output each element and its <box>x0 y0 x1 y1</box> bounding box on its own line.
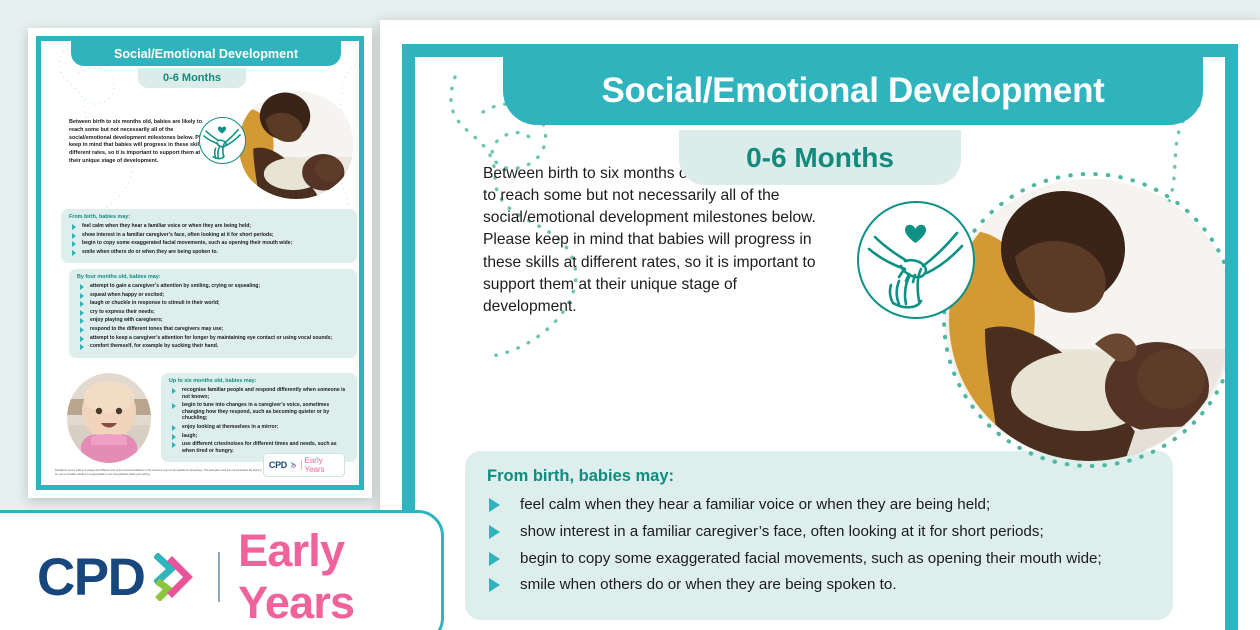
thumb-card-four-months: By four months old, babies may: attempt … <box>69 269 357 358</box>
list-item-text: recognise familiar people and respond di… <box>182 387 345 400</box>
thumb-logo-cpd: CPD <box>269 460 287 470</box>
list-item: laugh or chuckle in response to stimuli … <box>77 300 349 307</box>
triangle-bullet-icon <box>72 224 76 230</box>
list-item: cry to express their needs; <box>77 309 349 316</box>
list-item-text: smile when others do or when they are be… <box>520 576 897 593</box>
poster-large-frame: Social/Emotional Development 0-6 Months <box>402 44 1238 630</box>
list-item: show interest in a familiar caregiver’s … <box>487 522 1151 542</box>
thumb-footer: Disclaimer: Every setting is unique and … <box>55 453 345 477</box>
list-item: feel calm when they hear a familiar voic… <box>487 495 1151 515</box>
list-item-text: enjoy playing with caregivers; <box>90 317 163 323</box>
thumb-logo-early-years: Early Years <box>305 456 340 474</box>
photo-dotted-ring <box>935 169 1225 471</box>
triangle-bullet-icon <box>172 403 176 409</box>
age-range-badge: 0-6 Months <box>679 130 961 185</box>
triangle-bullet-icon <box>172 388 176 394</box>
list-item-text: cry to express their needs; <box>90 309 155 315</box>
list-item-text: use different cries/noises for different… <box>182 441 337 454</box>
list-item-text: smile when others do or when they are be… <box>82 249 218 255</box>
list-item-text: comfort themself, for example by sucking… <box>90 343 218 349</box>
triangle-bullet-icon <box>80 344 84 350</box>
list-item: enjoy playing with caregivers; <box>77 317 349 324</box>
triangle-bullet-icon <box>80 318 84 324</box>
list-item-text: feel calm when they hear a familiar voic… <box>520 496 990 513</box>
thumb-card-six-months: Up to six months old, babies may: recogn… <box>161 373 357 462</box>
page-title: Social/Emotional Development <box>601 71 1104 111</box>
thumb-section-heading: Up to six months old, babies may: <box>169 378 349 384</box>
thumb-hands-heart-icon <box>199 117 246 164</box>
list-item-text: feel calm when they hear a familiar voic… <box>82 223 251 229</box>
list-item: smile when others do or when they are be… <box>487 575 1151 595</box>
thumb-milestone-list: recognise familiar people and respond di… <box>169 387 349 454</box>
thumb-age-label: 0-6 Months <box>163 72 221 84</box>
poster-large: Social/Emotional Development 0-6 Months <box>380 20 1260 630</box>
triangle-bullet-icon <box>489 525 500 539</box>
chevron-mark-icon <box>154 553 200 601</box>
triangle-bullet-icon <box>72 250 76 256</box>
list-item-text: show interest in a familiar caregiver’s … <box>520 523 1044 540</box>
thumb-card-from-birth: From birth, babies may: feel calm when t… <box>61 209 357 263</box>
thumb-section-heading: From birth, babies may: <box>69 214 349 220</box>
thumb-intro-paragraph: Between birth to six months old, babies … <box>69 119 213 166</box>
list-item: laugh; <box>169 433 349 440</box>
list-item: attempt to keep a caregiver’s attention … <box>77 335 349 342</box>
thumb-chevron-mark-icon <box>290 461 298 470</box>
list-item: begin to copy some exaggerated facial mo… <box>69 240 349 247</box>
list-item: recognise familiar people and respond di… <box>169 387 349 400</box>
milestones-card-from-birth: From birth, babies may: feel calm when t… <box>465 451 1173 620</box>
intro-paragraph: Between birth to six months old, babies … <box>483 163 833 318</box>
screenshot-stage: Social/Emotional Development 0-6 Months <box>0 0 1260 630</box>
thumb-title-banner: Social/Emotional Development <box>71 41 341 66</box>
list-item: comfort themself, for example by sucking… <box>77 343 349 350</box>
list-item: show interest in a familiar caregiver’s … <box>69 232 349 239</box>
list-item-text: laugh or chuckle in response to stimuli … <box>90 300 220 306</box>
age-range-label: 0-6 Months <box>746 142 894 174</box>
list-item: respond to the different tones that care… <box>77 326 349 333</box>
list-item-text: enjoy looking at themselves in a mirror; <box>182 424 278 430</box>
list-item-text: begin to copy some exaggerated facial mo… <box>82 240 292 246</box>
poster-large-content: Social/Emotional Development 0-6 Months <box>415 57 1225 630</box>
thumb-milestone-list: feel calm when they hear a familiar voic… <box>69 223 349 255</box>
thumb-baby-photo <box>67 373 151 463</box>
triangle-bullet-icon <box>489 552 500 566</box>
list-item: enjoy looking at themselves in a mirror; <box>169 424 349 431</box>
list-item-text: begin to tune into changes in a caregive… <box>182 402 329 421</box>
triangle-bullet-icon <box>489 578 500 592</box>
thumb-brand-logo: CPD Early Years <box>263 453 345 477</box>
triangle-bullet-icon <box>80 310 84 316</box>
thumb-milestone-list: attempt to gain a caregiver’s attention … <box>77 283 349 350</box>
thumb-page-title: Social/Emotional Development <box>114 47 298 61</box>
hands-heart-icon <box>857 201 975 319</box>
logo-divider <box>218 552 220 602</box>
list-item: feel calm when they hear a familiar voic… <box>69 223 349 230</box>
milestone-list: feel calm when they hear a familiar voic… <box>487 495 1151 595</box>
list-item-text: attempt to gain a caregiver’s attention … <box>90 283 260 289</box>
triangle-bullet-icon <box>80 327 84 333</box>
thumb-section-heading: By four months old, babies may: <box>77 274 349 280</box>
list-item-text: laugh; <box>182 433 197 439</box>
triangle-bullet-icon <box>80 336 84 342</box>
list-item-text: show interest in a familiar caregiver’s … <box>82 232 274 238</box>
brand-logo-card: CPD Early Years <box>0 510 444 630</box>
triangle-bullet-icon <box>80 301 84 307</box>
list-item: smile when others do or when they are be… <box>69 249 349 256</box>
list-item: begin to copy some exaggerated facial mo… <box>487 549 1151 569</box>
triangle-bullet-icon <box>172 434 176 440</box>
triangle-bullet-icon <box>489 498 500 512</box>
thumb-age-badge: 0-6 Months <box>138 68 246 88</box>
poster-thumbnail[interactable]: Social/Emotional Development 0-6 Months <box>28 28 372 498</box>
list-item-text: respond to the different tones that care… <box>90 326 223 332</box>
logo-cpd-text: CPD <box>37 547 144 608</box>
list-item-text: attempt to keep a caregiver’s attention … <box>90 335 332 341</box>
list-item-text: squeal when happy or excited; <box>90 292 164 298</box>
thumb-caregiver-baby-photo <box>237 91 355 199</box>
brand-logo-row: CPD Early Years <box>0 525 441 629</box>
triangle-bullet-icon <box>172 425 176 431</box>
list-item: attempt to gain a caregiver’s attention … <box>77 283 349 290</box>
triangle-bullet-icon <box>72 241 76 247</box>
triangle-bullet-icon <box>172 442 176 448</box>
list-item-text: begin to copy some exaggerated facial mo… <box>520 550 1102 567</box>
poster-title-banner: Social/Emotional Development <box>503 57 1203 125</box>
poster-thumbnail-frame: Social/Emotional Development 0-6 Months <box>36 36 364 490</box>
list-item: begin to tune into changes in a caregive… <box>169 402 349 422</box>
disclaimer-text: Disclaimer: Every setting is unique and … <box>55 469 263 477</box>
triangle-bullet-icon <box>80 284 84 290</box>
list-item: squeal when happy or excited; <box>77 292 349 299</box>
logo-early-years-text: Early Years <box>238 525 441 629</box>
triangle-bullet-icon <box>72 233 76 239</box>
triangle-bullet-icon <box>80 293 84 299</box>
